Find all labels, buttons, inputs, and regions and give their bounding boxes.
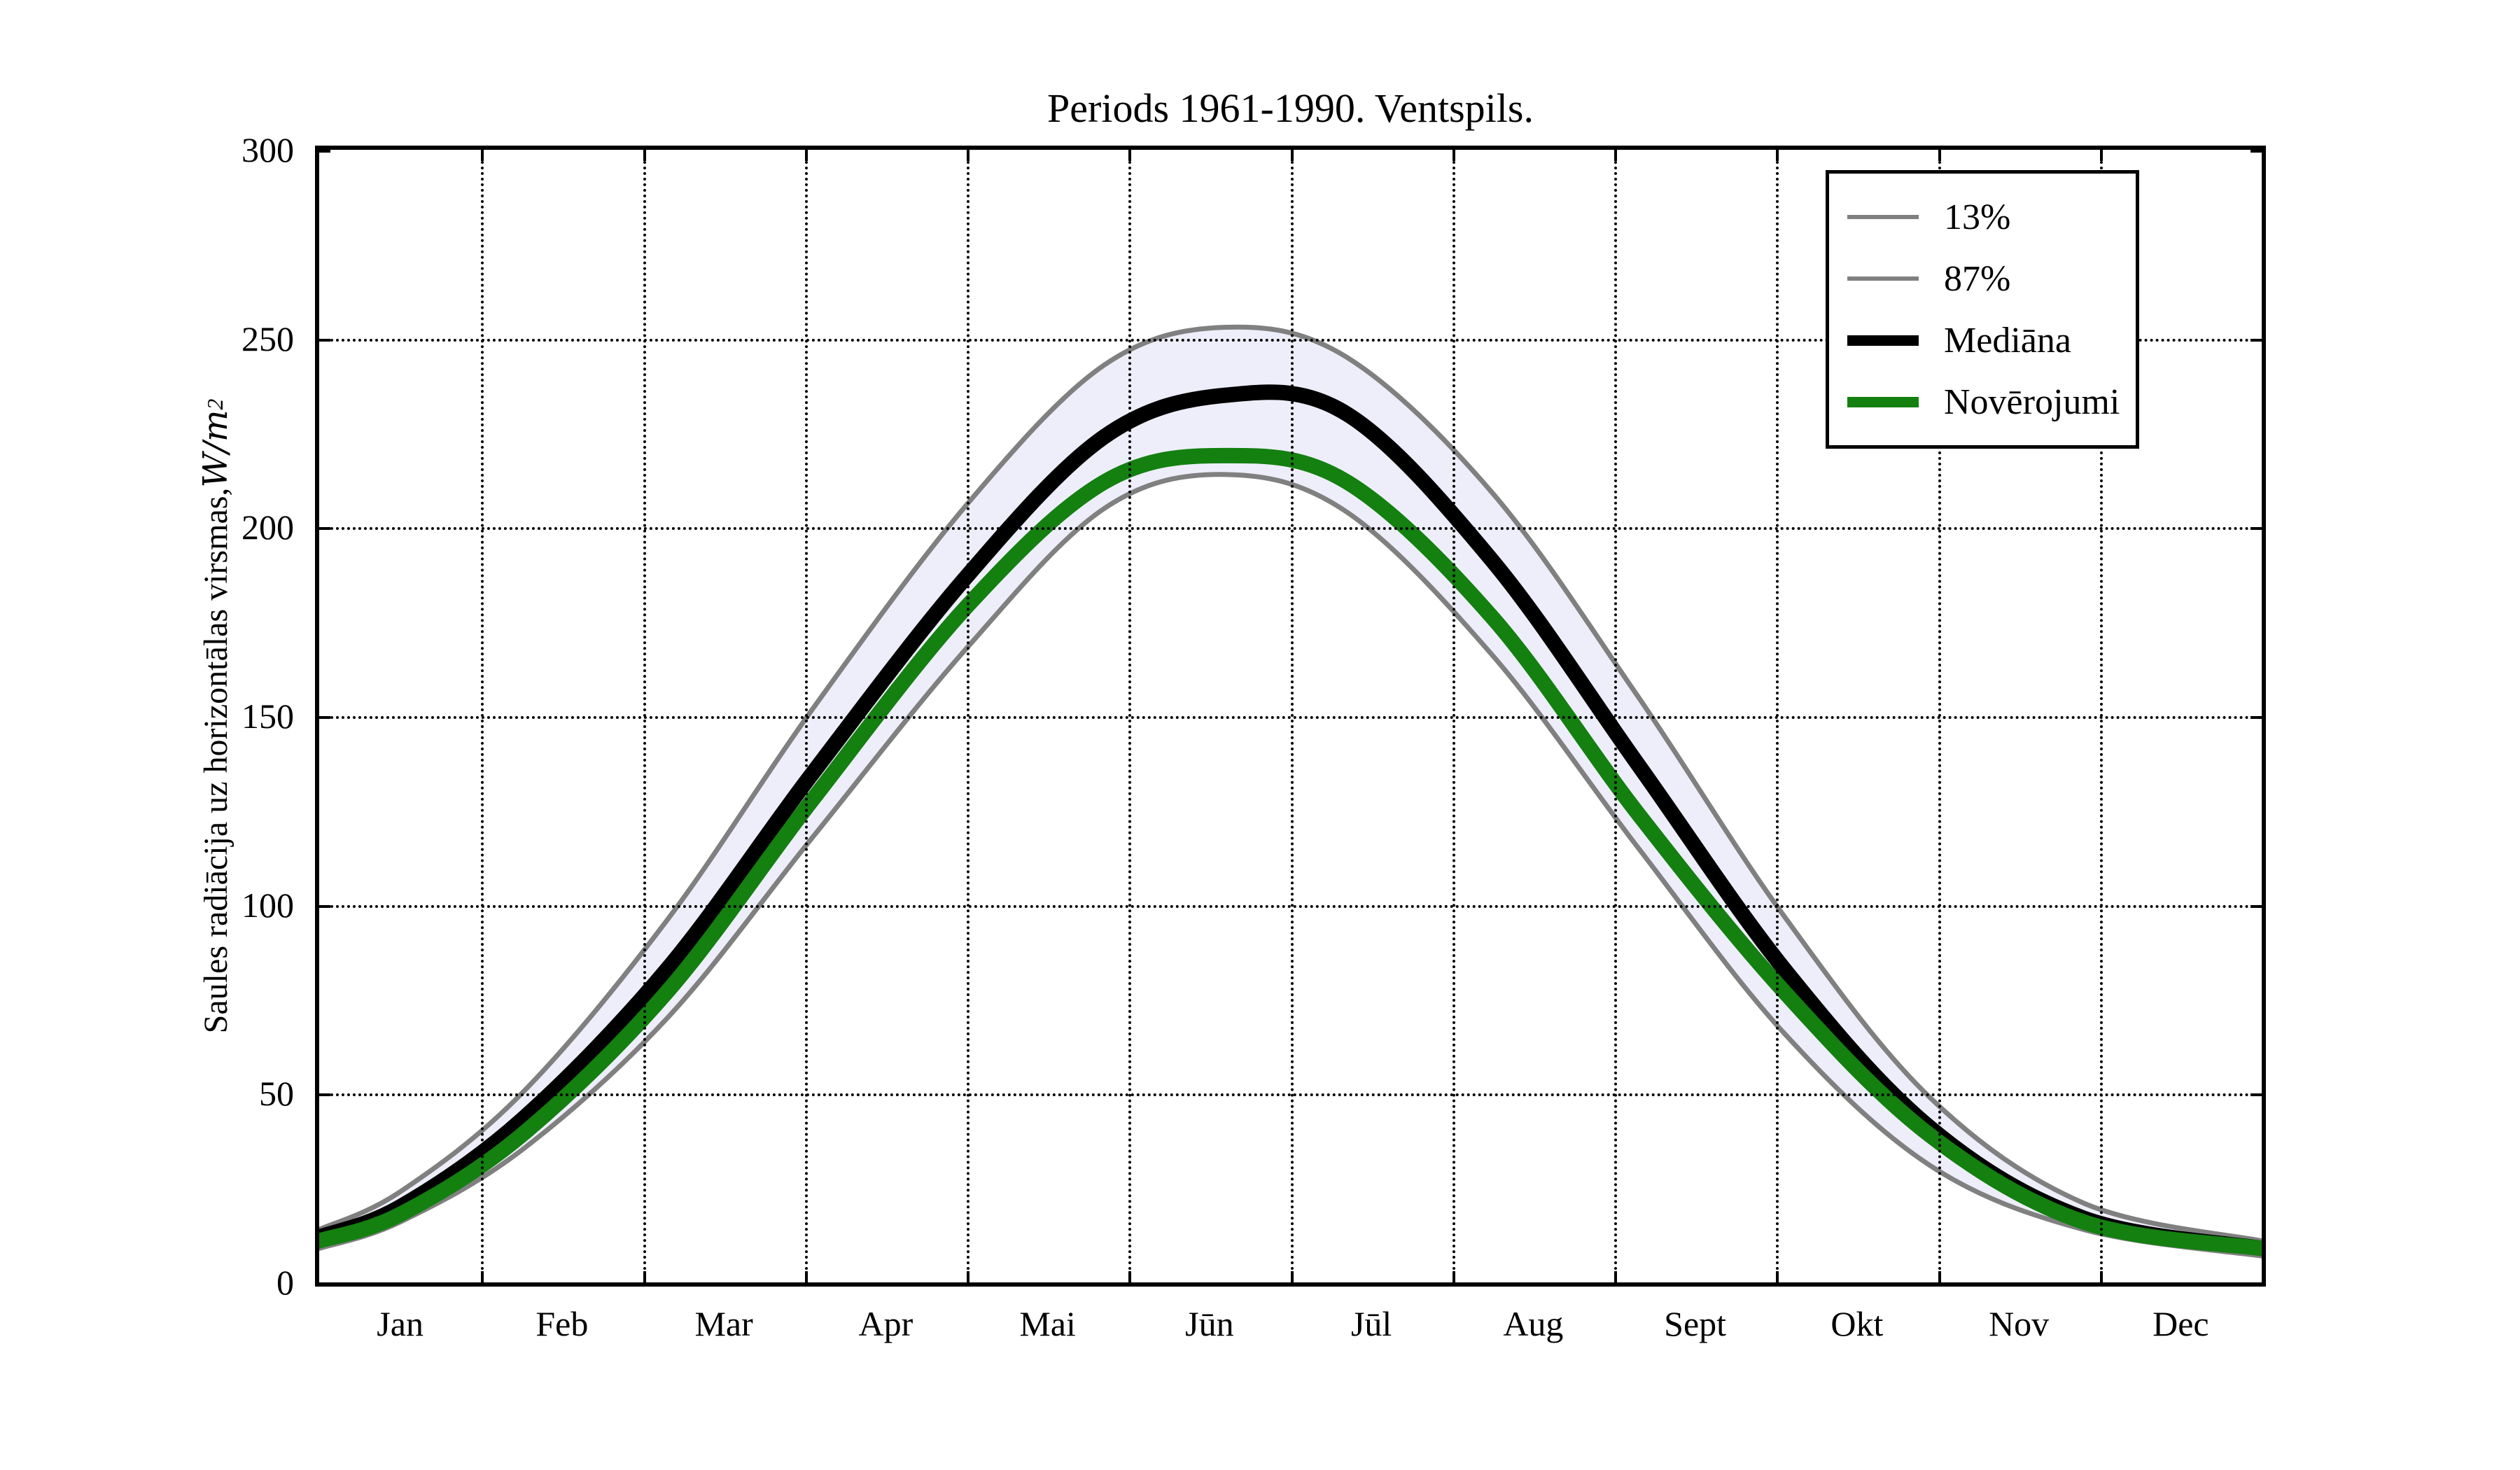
y-axis-tick <box>319 527 330 530</box>
x-axis-tick <box>1452 150 1455 161</box>
x-tick-label: Mar <box>694 1303 752 1344</box>
y-axis-tick <box>2250 905 2262 908</box>
legend-item[interactable]: 13% <box>1829 186 2136 248</box>
legend-line-icon <box>1847 215 1919 219</box>
legend-item[interactable]: Novērojumi <box>1829 371 2136 433</box>
x-axis-tick <box>805 1271 808 1282</box>
x-tick-label: Aug <box>1503 1303 1563 1344</box>
x-axis-tick <box>1291 150 1294 161</box>
y-axis-tick <box>2250 150 2262 153</box>
x-tick-label: Okt <box>1830 1303 1883 1344</box>
y-tick-label: 250 <box>241 318 294 359</box>
x-axis-tick <box>2100 1271 2103 1282</box>
legend-item-label: Mediāna <box>1944 320 2071 361</box>
x-axis-tick <box>805 150 808 161</box>
x-tick-label: Sept <box>1664 1303 1726 1344</box>
legend-swatch-icon <box>1847 335 1919 346</box>
y-tick-label: 200 <box>241 507 294 547</box>
x-axis-tick <box>1614 150 1617 161</box>
x-axis-tick <box>1614 1271 1617 1282</box>
legend-line-icon <box>1847 276 1919 281</box>
y-axis-tick <box>319 1093 330 1096</box>
legend: 13%87%MediānaNovērojumi <box>1826 170 2139 449</box>
x-axis-tick <box>481 1271 484 1282</box>
y-tick-label: 300 <box>241 129 294 170</box>
y-axis-title-text: Saules radiācija uz horizontālas virsmas… <box>197 488 235 1034</box>
legend-line-icon <box>1847 397 1919 407</box>
x-axis-tick <box>1938 1271 1941 1282</box>
y-axis-tick <box>319 339 330 342</box>
x-axis-tick <box>2100 150 2103 161</box>
x-axis-tick <box>1291 1271 1294 1282</box>
x-tick-label: Jan <box>377 1303 423 1344</box>
x-tick-label: Feb <box>535 1303 588 1344</box>
y-tick-label: 150 <box>241 696 294 736</box>
legend-item-label: 13% <box>1944 197 2010 238</box>
y-axis-tick <box>2250 716 2262 719</box>
legend-item-label: Novērojumi <box>1944 381 2120 423</box>
x-axis-tick <box>1938 150 1941 161</box>
x-axis-tick <box>1776 150 1779 161</box>
legend-line-icon <box>1847 335 1919 346</box>
legend-swatch-icon <box>1847 215 1919 219</box>
y-axis-tick <box>319 905 330 908</box>
x-axis-tick <box>1128 150 1131 161</box>
x-axis-tick <box>967 150 969 161</box>
chart-figure: Periods 1961-1990. Ventspils. Saules rad… <box>0 0 2520 1470</box>
gridline-horizontal <box>319 527 2262 530</box>
x-tick-label: Jūl <box>1351 1303 1392 1344</box>
y-axis-tick <box>2250 339 2262 342</box>
y-tick-label: 100 <box>241 885 294 925</box>
x-axis-tick <box>967 1271 969 1282</box>
legend-swatch-icon <box>1847 276 1919 281</box>
x-tick-label: Jūn <box>1185 1303 1233 1344</box>
y-axis-tick <box>2250 1093 2262 1096</box>
y-axis-tick <box>319 150 330 153</box>
y-axis-tick <box>2250 527 2262 530</box>
legend-item-label: 87% <box>1944 258 2010 300</box>
y-axis-title-units: W/m <box>196 410 235 488</box>
gridline-horizontal <box>319 1093 2262 1096</box>
x-tick-label: Dec <box>2152 1303 2209 1344</box>
gridline-horizontal <box>319 905 2262 908</box>
x-tick-label: Mai <box>1019 1303 1076 1344</box>
legend-item[interactable]: Mediāna <box>1829 309 2136 371</box>
x-axis-tick <box>643 150 646 161</box>
y-tick-label: 0 <box>276 1262 294 1303</box>
y-axis-title-exponent: 2 <box>203 399 228 410</box>
legend-swatch-icon <box>1847 397 1919 407</box>
x-tick-label: Apr <box>858 1303 913 1344</box>
y-axis-title: Saules radiācija uz horizontālas virsmas… <box>188 146 244 1287</box>
x-axis-tick <box>481 150 484 161</box>
x-tick-label: Nov <box>1989 1303 2049 1344</box>
gridline-horizontal <box>319 716 2262 719</box>
x-axis-tick <box>643 1271 646 1282</box>
page-title: Periods 1961-1990. Ventspils. <box>315 87 2266 130</box>
y-axis-tick <box>319 716 330 719</box>
x-axis-tick <box>1776 1271 1779 1282</box>
y-tick-label: 50 <box>259 1073 294 1114</box>
x-axis-tick <box>1128 1271 1131 1282</box>
legend-item[interactable]: 87% <box>1829 248 2136 309</box>
x-axis-tick <box>1452 1271 1455 1282</box>
